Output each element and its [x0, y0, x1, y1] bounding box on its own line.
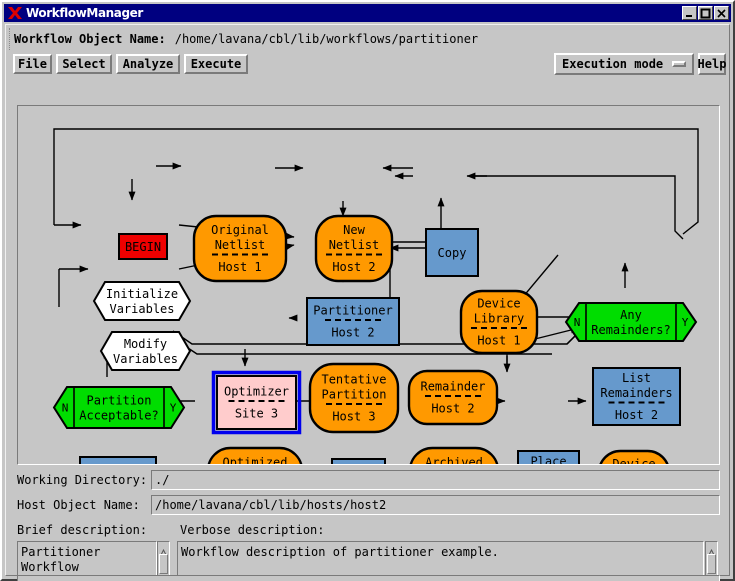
node-place-route[interactable]: Place& RouteHost 1 — [518, 451, 579, 464]
node-arch-part[interactable]: ArchivedPartitionHost 1 — [410, 448, 498, 464]
node-orig-net-label: Original — [211, 223, 269, 237]
node-orig-net[interactable]: OriginalNetlistHost 1 — [194, 216, 286, 281]
node-remainder-host: Host 2 — [431, 402, 474, 416]
node-new-net[interactable]: NewNetlistHost 2 — [316, 216, 392, 281]
menu-analyze[interactable]: Analyze — [116, 54, 180, 74]
node-init-vars-label: Variables — [109, 302, 174, 316]
node-dev-layout-label: Device — [612, 457, 655, 464]
node-tent-part[interactable]: TentativePartitionHost 3 — [310, 364, 398, 432]
menu-execute-label: Execute — [191, 58, 242, 71]
node-partitioner-host: Host 2 — [331, 326, 374, 340]
node-mod-vars-label: Variables — [113, 352, 178, 366]
node-any-rem-label: Any — [620, 308, 642, 322]
node-new-net-label: Netlist — [329, 238, 380, 252]
menu-select[interactable]: Select — [56, 54, 112, 74]
node-orig-net-label: Netlist — [215, 238, 266, 252]
menu-file-label: File — [18, 58, 47, 71]
node-opt-part-label: Optimized — [222, 456, 287, 465]
working-directory-row: Working Directory: — [17, 471, 147, 489]
title-bar: WorkflowManager — [4, 4, 731, 22]
node-partitioner-label: Partitioner — [313, 304, 392, 318]
brief-description-label: Brief description: — [17, 523, 147, 537]
node-list-rem-host: Host 2 — [615, 408, 658, 422]
window-title: WorkflowManager — [26, 6, 143, 20]
node-list-rem-label: List — [622, 371, 651, 385]
window-controls — [682, 6, 729, 20]
node-dev-layout[interactable]: DeviceLayoutHost 1 — [599, 451, 669, 464]
scroll-thumb[interactable] — [159, 554, 168, 574]
node-tent-part-label: Tentative — [321, 373, 386, 387]
node-evaluator-label: Evaluator — [85, 464, 150, 465]
node-remainder[interactable]: RemainderHost 2 — [409, 371, 497, 424]
maximize-button[interactable] — [698, 6, 713, 20]
node-dev-lib-label: Device — [477, 297, 520, 311]
scroll-up-icon[interactable] — [707, 543, 716, 552]
brief-description-row: Brief description: — [17, 521, 147, 539]
host-object-name-input[interactable]: /home/lavana/cbl/lib/hosts/host2 — [151, 495, 720, 515]
node-part-ok-label: Acceptable? — [79, 409, 158, 423]
menu-help[interactable]: Help — [698, 53, 726, 75]
node-any-rem[interactable]: NYAnyRemainders? — [566, 303, 696, 341]
node-new-net-host: Host 2 — [332, 260, 375, 274]
node-part-ok[interactable]: NYPartitionAcceptable? — [54, 387, 184, 428]
node-opt-part[interactable]: OptimizedPartitionHost 2 — [208, 448, 302, 464]
host-object-name-label: Host Object Name: — [17, 498, 140, 512]
scroll-up-icon[interactable] — [159, 543, 168, 552]
properties-pane: Working Directory: ./ Host Object Name: … — [17, 471, 720, 569]
verbose-description-row: Verbose description: — [180, 521, 325, 539]
node-copy[interactable]: Copy — [426, 229, 478, 276]
node-arch-part-label: Archived — [425, 456, 483, 465]
workflow-diagram: BEGINInitializeVariablesModifyVariablesO… — [18, 106, 719, 464]
node-any-rem-branch-yes: Y — [682, 316, 689, 329]
node-init-vars[interactable]: InitializeVariables — [94, 282, 190, 320]
node-init-vars-label: Initialize — [106, 287, 178, 301]
node-part-ok-branch-no: N — [62, 402, 69, 415]
workflow-manager-window: WorkflowManager Workflow Object Name: /h… — [0, 0, 735, 581]
node-place-route-label: Place — [530, 455, 566, 465]
node-begin-label: BEGIN — [125, 240, 161, 254]
host-object-name-row: Host Object Name: — [17, 496, 140, 514]
scroll-thumb[interactable] — [707, 554, 716, 574]
working-directory-input[interactable]: ./ — [151, 470, 720, 490]
close-button[interactable] — [714, 6, 729, 20]
workflow-object-name-value[interactable]: /home/lavana/cbl/lib/workflows/partition… — [175, 32, 478, 46]
menu-analyze-label: Analyze — [123, 58, 174, 71]
node-dev-lib-host: Host 1 — [477, 334, 520, 348]
node-optimizer-label: Optimizer — [224, 385, 289, 399]
node-optimizer-host: Site 3 — [235, 407, 278, 421]
client-area: Workflow Object Name: /home/lavana/cbl/l… — [5, 24, 730, 576]
execution-mode-option-menu[interactable]: Execution mode — [554, 53, 694, 75]
node-optimizer[interactable]: OptimizerSite 3 — [214, 373, 300, 433]
node-part-ok-label: Partition — [86, 394, 151, 408]
node-dev-lib-label: Library — [474, 312, 525, 326]
node-ftp[interactable]: FTP — [332, 459, 385, 464]
node-any-rem-label: Remainders? — [591, 323, 670, 337]
node-mod-vars[interactable]: ModifyVariables — [101, 332, 190, 370]
verbose-description-label: Verbose description: — [180, 523, 325, 537]
workflow-object-name-label: Workflow Object Name: — [10, 32, 166, 46]
node-part-ok-branch-yes: Y — [170, 402, 177, 415]
node-any-rem-branch-no: N — [574, 316, 581, 329]
node-dev-lib[interactable]: DeviceLibraryHost 1 — [461, 291, 537, 353]
menu-help-label: Help — [698, 58, 727, 71]
x-logo-icon — [7, 6, 23, 20]
menu-file[interactable]: File — [13, 54, 52, 74]
node-copy-label: Copy — [438, 246, 467, 260]
node-tent-part-label: Partition — [321, 388, 386, 402]
workflow-object-name-row: Workflow Object Name: /home/lavana/cbl/l… — [9, 28, 726, 50]
working-directory-label: Working Directory: — [17, 473, 147, 487]
menu-bar: File Select Analyze Execute Execution mo… — [9, 51, 726, 77]
node-mod-vars-label: Modify — [124, 337, 167, 351]
edge-any-remainders-yes-to-copy-route — [470, 176, 683, 239]
minimize-button[interactable] — [682, 6, 697, 20]
menu-execute[interactable]: Execute — [184, 54, 248, 74]
node-orig-net-host: Host 1 — [218, 260, 261, 274]
workflow-canvas[interactable]: BEGINInitializeVariablesModifyVariablesO… — [17, 105, 720, 465]
menu-select-label: Select — [62, 58, 105, 71]
node-tent-part-host: Host 3 — [332, 410, 375, 424]
diagram-nodes: BEGINInitializeVariablesModifyVariablesO… — [54, 216, 719, 464]
node-partitioner[interactable]: PartitionerHost 2 — [307, 298, 399, 345]
status-bar — [17, 575, 720, 581]
execution-mode-label: Execution mode — [562, 57, 663, 71]
node-remainder-label: Remainder — [420, 380, 485, 394]
node-list-rem-label: Remainders — [600, 386, 672, 400]
node-begin[interactable]: BEGIN — [119, 234, 167, 259]
node-evaluator[interactable]: EvaluatorHost 2 — [80, 457, 156, 464]
node-list-rem[interactable]: ListRemaindersHost 2 — [593, 368, 680, 425]
option-menu-indicator-icon — [672, 61, 686, 67]
node-new-net-label: New — [343, 223, 365, 237]
